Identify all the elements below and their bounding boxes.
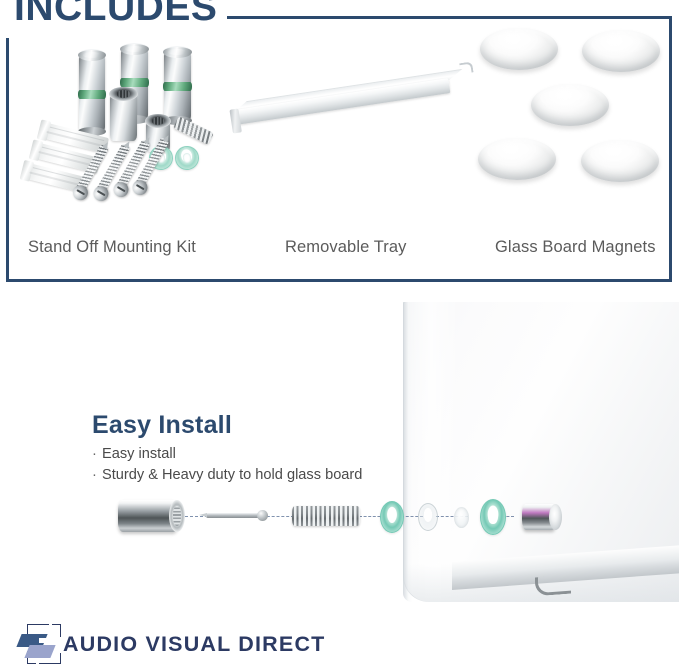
assembly-threaded-rod [292,506,360,526]
bullet-dot-icon: · [92,465,102,486]
page-title: INCLUDES [14,0,227,30]
threaded-rod [173,116,214,145]
list-item: · Sturdy & Heavy duty to hold glass boar… [92,465,402,486]
glass-mount-hole [454,507,469,528]
easy-install-block: Easy Install · Easy install · Sturdy & H… [92,410,402,486]
list-item: · Easy install [92,444,402,465]
caption-row: Stand Off Mounting Kit Removable Tray Gl… [6,238,672,264]
dome-magnet [478,138,556,180]
bullet-dot-icon: · [92,444,102,465]
caption-glass-board-magnets: Glass Board Magnets [495,238,656,257]
dome-magnet [581,140,659,182]
standoff-barrel [164,51,191,121]
chrome-cap [522,504,556,530]
glass-left-edge [403,302,412,602]
standoff-mounting-kit-icon [18,34,233,229]
green-washer [173,144,201,172]
threaded-socket [110,93,137,141]
dome-magnet [582,30,660,72]
washer-behind-glass [418,503,438,531]
chrome-barrel [118,500,178,532]
easy-install-heading: Easy Install [92,410,402,440]
easy-install-bullet-text: Sturdy & Heavy duty to hold glass board [102,465,362,486]
panel-border-top [153,16,672,19]
glass-board-magnets-icon [475,24,665,184]
green-washer [380,501,404,533]
exploded-standoff-assembly [118,487,538,549]
footer-brand-bar: AUDIO VISUAL DIRECT [0,616,679,672]
audio-visual-direct-logo-mark [18,624,62,664]
caption-stand-off-mounting-kit: Stand Off Mounting Kit [28,238,196,257]
attached-aluminum-tray [452,562,679,594]
easy-install-bullet-text: Easy install [102,444,176,465]
assembly-screw [206,513,262,518]
product-infographic: INCLUDES [0,0,679,672]
dome-magnet [480,28,558,70]
glass-highlight [412,302,460,602]
brand-name: AUDIO VISUAL DIRECT [63,632,326,657]
green-washer [480,499,506,535]
caption-removable-tray: Removable Tray [285,238,407,257]
dome-magnet [531,84,609,126]
panel-border-bottom [6,279,672,282]
removable-tray-icon [237,100,472,180]
standoff-barrel [79,54,105,132]
